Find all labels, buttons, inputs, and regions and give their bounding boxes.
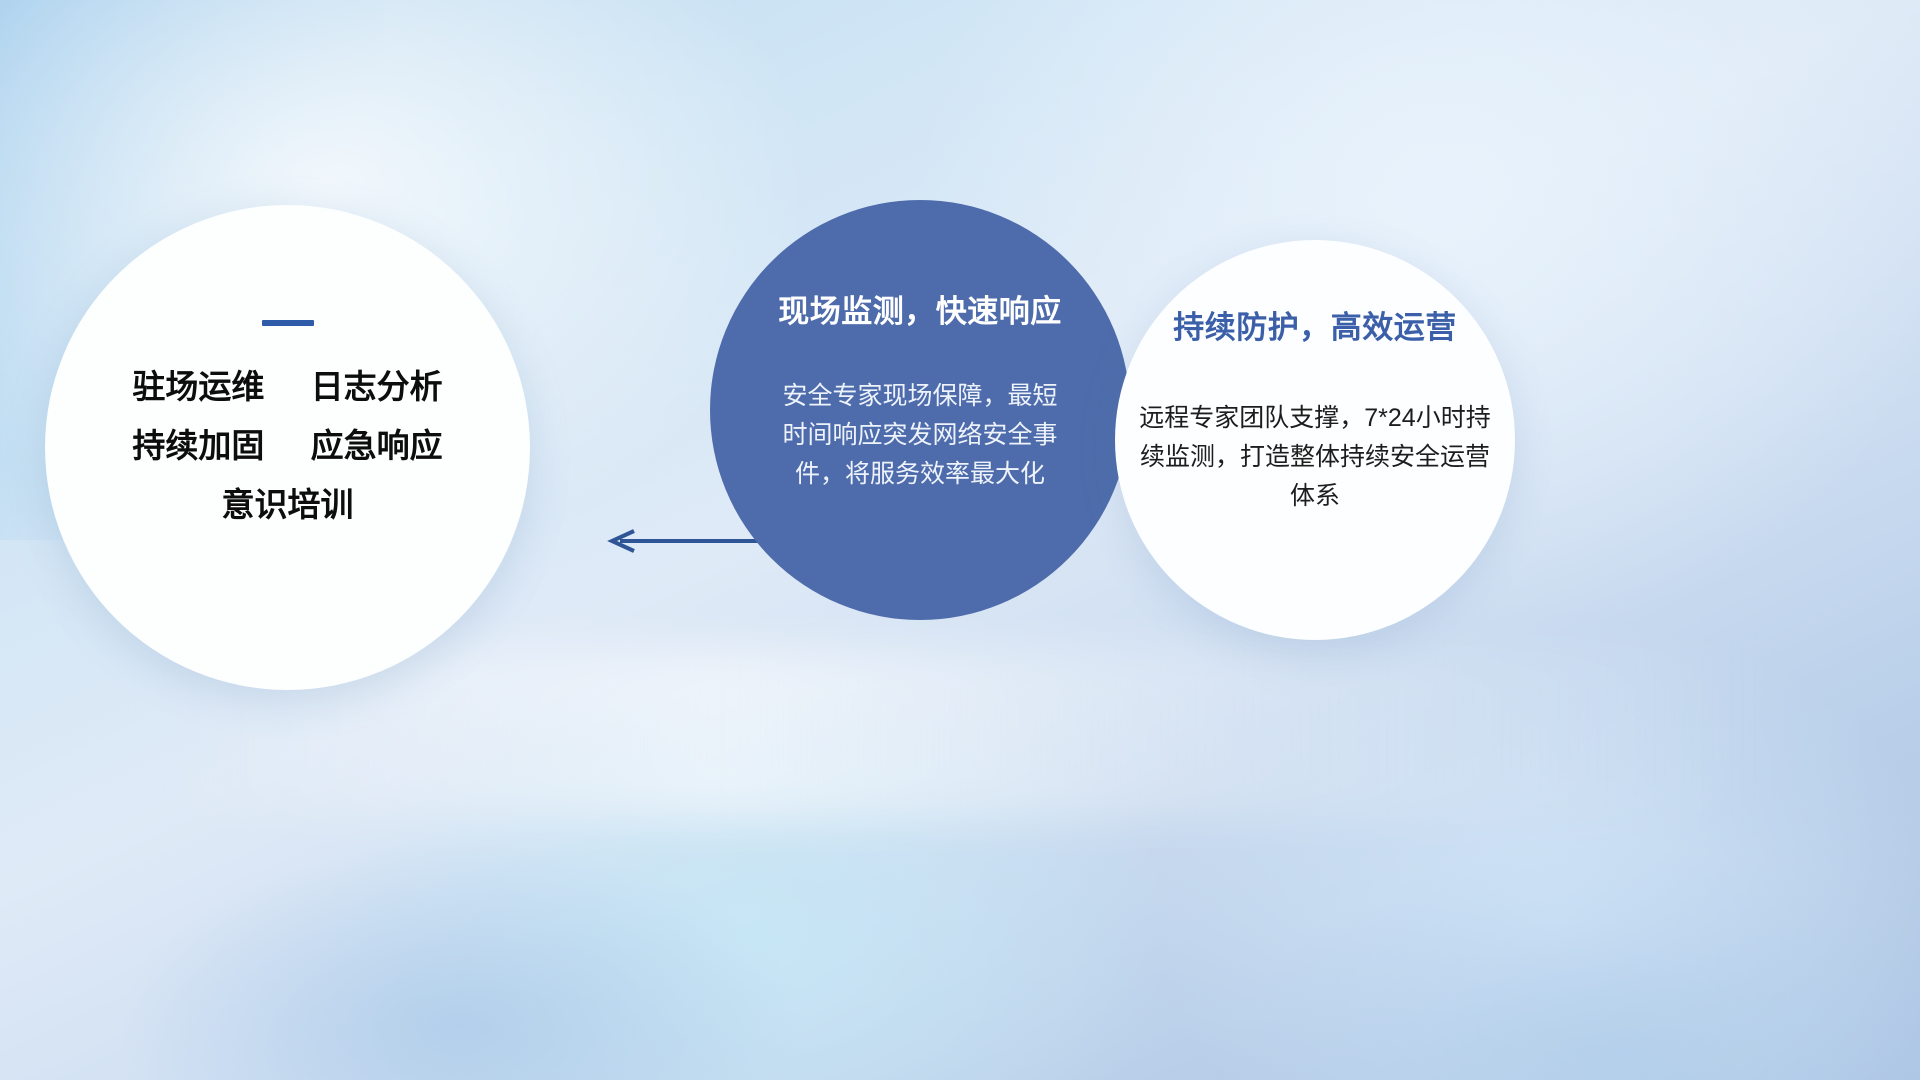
node-services-circle[interactable]: 驻场运维 日志分析 持续加固 应急响应 意识培训 <box>45 205 530 690</box>
list-item: 意识培训 <box>132 488 442 521</box>
node-heading: 持续防护，高效运营 <box>1173 302 1457 347</box>
service-label: 应急响应 <box>311 427 443 464</box>
service-label: 驻场运维 <box>132 368 264 405</box>
accent-dash <box>262 320 314 326</box>
service-items-list: 驻场运维 日志分析 持续加固 应急响应 意识培训 <box>132 370 442 521</box>
node-onsite-monitoring-circle[interactable]: 现场监测，快速响应 安全专家现场保障，最短时间响应突发网络安全事件，将服务效率最… <box>710 200 1130 620</box>
node-body-text: 安全专家现场保障，最短时间响应突发网络安全事件，将服务效率最大化 <box>782 377 1058 493</box>
service-label: 意识培训 <box>222 486 354 523</box>
service-label: 日志分析 <box>311 368 443 405</box>
service-label: 持续加固 <box>132 427 264 464</box>
list-item: 驻场运维 日志分析 <box>132 370 442 403</box>
node-body-text: 远程专家团队支撑，7*24小时持续监测，打造整体持续安全运营体系 <box>1139 399 1491 515</box>
node-heading: 现场监测，快速响应 <box>778 286 1062 331</box>
list-item: 持续加固 应急响应 <box>132 429 442 462</box>
node-continuous-protection-circle[interactable]: 持续防护，高效运营 远程专家团队支撑，7*24小时持续监测，打造整体持续安全运营… <box>1115 240 1515 640</box>
